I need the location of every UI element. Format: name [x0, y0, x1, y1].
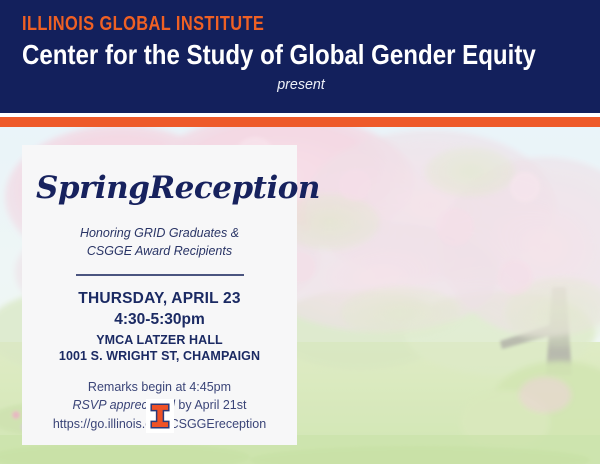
- event-address: 1001 S. WRIGHT ST, CHAMPAIGN: [36, 349, 283, 364]
- institute-name: ILLINOIS GLOBAL INSTITUTE: [22, 14, 480, 34]
- rsvp-deadline: by April 21st: [175, 398, 247, 412]
- event-details: THURSDAY, APRIL 23 4:30-5:30pm YMCA LATZ…: [36, 290, 283, 364]
- event-script-title: SpringReception: [36, 173, 283, 204]
- invitation-card: SpringReception Honoring GRID Graduates …: [22, 145, 297, 445]
- orange-accent-stripe: [0, 117, 600, 127]
- remarks-note: Remarks begin at 4:45pm: [36, 378, 283, 397]
- event-flyer: ILLINOIS GLOBAL INSTITUTE Center for the…: [0, 0, 600, 464]
- illinois-logo-container: [146, 399, 174, 433]
- present-label: present: [36, 76, 566, 93]
- honoring-line-2: CSGGE Award Recipients: [36, 242, 283, 260]
- honoring-text: Honoring GRID Graduates & CSGGE Award Re…: [36, 224, 283, 260]
- flyer-header: ILLINOIS GLOBAL INSTITUTE Center for the…: [0, 0, 600, 113]
- illinois-block-i-icon: [150, 403, 170, 429]
- honoring-line-1: Honoring GRID Graduates &: [36, 224, 283, 242]
- event-date: THURSDAY, APRIL 23: [36, 290, 283, 309]
- center-name: Center for the Study of Global Gender Eq…: [22, 40, 502, 69]
- section-divider: [76, 274, 244, 276]
- event-venue: YMCA LATZER HALL: [36, 333, 283, 348]
- event-time: 4:30-5:30pm: [36, 311, 283, 330]
